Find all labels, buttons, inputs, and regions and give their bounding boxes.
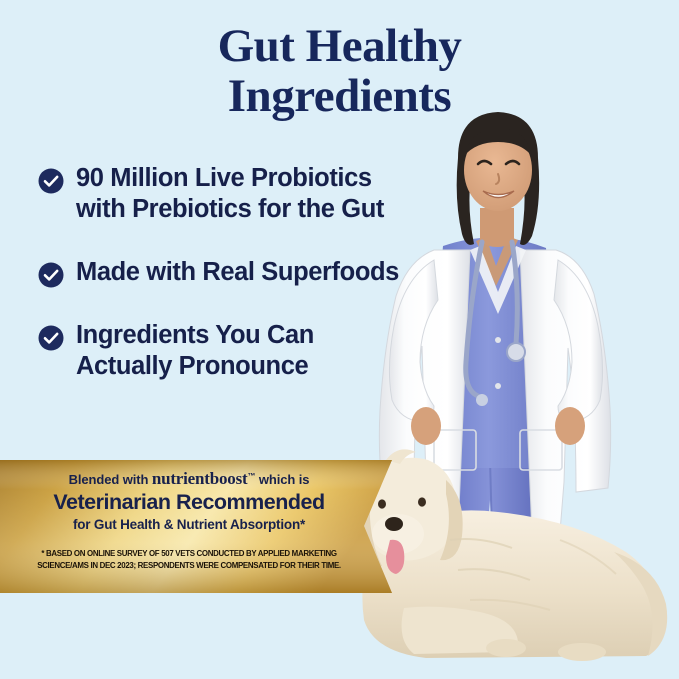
- dog-paw: [486, 639, 526, 657]
- title-line-2: Ingredients: [0, 72, 679, 122]
- banner-line-1-suffix: which is: [255, 472, 309, 487]
- title-line-1: Gut Healthy: [218, 20, 462, 72]
- benefit-line-1: 90 Million Live Probiotics: [76, 164, 372, 192]
- footnote-line-1: * BASED ON ONLINE SURVEY OF 507 VETS CON…: [37, 548, 341, 560]
- benefit-line-2: Actually Pronounce: [76, 352, 308, 380]
- vet-recommended-banner: Blended with nutrientboost™ which is Vet…: [0, 460, 400, 593]
- list-item: Made with Real Superfoods: [38, 257, 448, 288]
- banner-line-1-prefix: Blended with: [69, 472, 152, 487]
- page-title: Gut Healthy Ingredients: [0, 22, 679, 122]
- benefit-text: Ingredients You Can Actually Pronounce: [76, 320, 314, 382]
- benefit-line-1: Made with Real Superfoods: [76, 258, 399, 286]
- banner-line-3: for Gut Health & Nutrient Absorption*: [73, 517, 305, 532]
- banner-line-1: Blended with nutrientboost™ which is: [69, 469, 310, 489]
- brand-name: nutrientboost: [152, 469, 248, 488]
- right-hand: [555, 407, 585, 445]
- benefit-line-1: Ingredients You Can: [76, 321, 314, 349]
- footnote-line-2: SCIENCE/AMS IN DEC 2023; RESPONDENTS WER…: [37, 560, 341, 572]
- banner-line-2: Veterinarian Recommended: [53, 490, 324, 515]
- dog-eye-right: [418, 497, 426, 506]
- benefit-line-2: with Prebiotics for the Gut: [76, 195, 384, 223]
- check-circle-icon: [38, 168, 64, 194]
- benefit-list: 90 Million Live Probiotics with Prebioti…: [38, 163, 448, 415]
- check-circle-icon: [38, 325, 64, 351]
- benefit-text: Made with Real Superfoods: [76, 257, 399, 288]
- benefit-text: 90 Million Live Probiotics with Prebioti…: [76, 163, 384, 225]
- check-circle-icon: [38, 262, 64, 288]
- dog-paw-rear: [558, 643, 606, 661]
- list-item: Ingredients You Can Actually Pronounce: [38, 320, 448, 382]
- banner-footnote: * BASED ON ONLINE SURVEY OF 507 VETS CON…: [37, 548, 341, 571]
- list-item: 90 Million Live Probiotics with Prebioti…: [38, 163, 448, 225]
- banner-text-group: Blended with nutrientboost™ which is Vet…: [0, 460, 378, 593]
- ad-creative: Gut Healthy Ingredients 90 Million Live …: [0, 0, 679, 679]
